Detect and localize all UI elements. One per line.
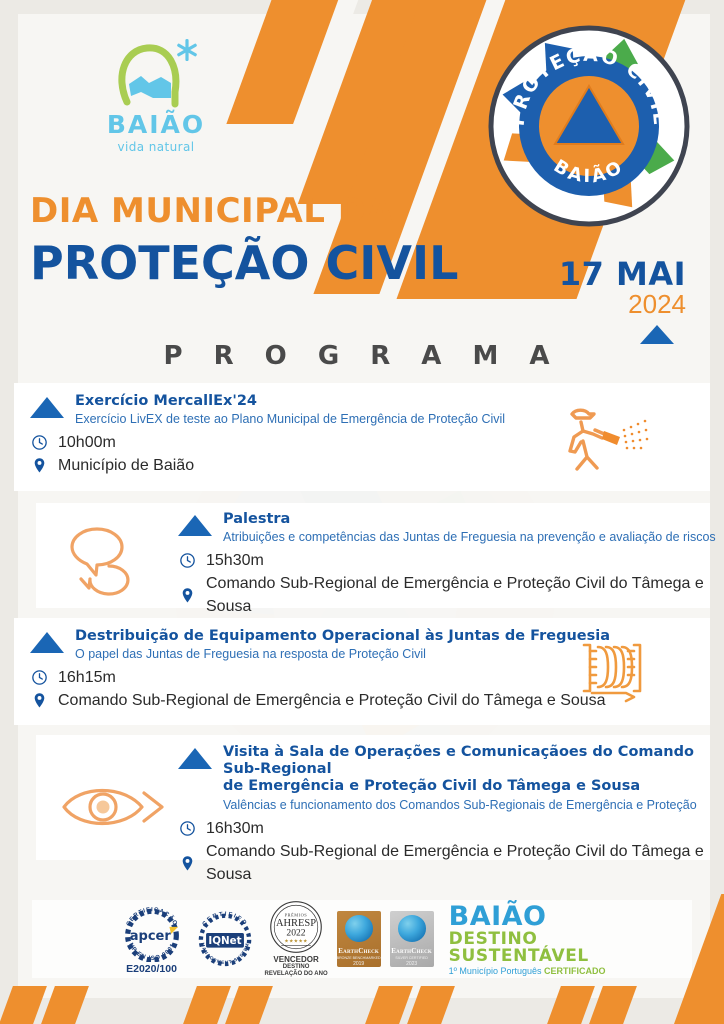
destino-line-4-bold: CERTIFICADO [544, 966, 606, 976]
baiao-logo-mark [88, 36, 224, 110]
program-item-2[interactable]: Palestra Atribuições e competências das … [0, 503, 724, 608]
event-place: Comando Sub-Regional de Emergência e Pro… [58, 689, 606, 712]
ahresp-caption-line3: REVELAÇÃO DO ANO [265, 971, 328, 978]
event-place-row: Comando Sub-Regional de Emergência e Pro… [178, 572, 724, 618]
bullet-triangle-icon [30, 632, 64, 653]
event-date-year: 2024 [559, 290, 686, 319]
event-time-row: 16h30m [178, 817, 724, 840]
event-time: 15h30m [206, 549, 264, 572]
ahresp-year-text: 2022 [287, 928, 306, 939]
bullet-triangle-icon [178, 515, 212, 536]
firefighter-icon [548, 397, 658, 486]
footer-certifications: CERTIFICAÇÃO NP EN ISO 9001 apcer E2020/… [32, 900, 692, 978]
event-place: Comando Sub-Regional de Emergência e Pro… [206, 572, 724, 618]
destino-line-4-prefix: 1º Município Português [449, 966, 544, 976]
baiao-logo: BAIÃO vida natural [88, 36, 224, 158]
protecao-civil-emblem: PROTEÇÃO CIVIL BAIÃO [487, 24, 691, 228]
event-place: Município de Baião [58, 454, 194, 477]
poster-root: BAIÃO vida natural [0, 0, 724, 1024]
iqnet-wordmark: IQNet [208, 935, 241, 947]
iqnet-ring-top-text: CERTIFIED [201, 912, 247, 928]
event-place: Comando Sub-Regional de Emergência e Pro… [206, 840, 724, 886]
svg-text:CERTIFIED: CERTIFIED [201, 912, 247, 928]
baiao-logo-wordmark: BAIÃO [88, 112, 224, 137]
row-gap [0, 491, 724, 503]
speech-bubbles-icon [60, 519, 170, 604]
row-gap [0, 725, 724, 735]
svg-text:CERTIFICAÇÃO: CERTIFICAÇÃO [125, 907, 177, 927]
clock-icon [178, 550, 196, 570]
earthcheck-silver-name: EarthCheck [391, 947, 432, 955]
clock-icon [30, 432, 48, 452]
earthcheck-silver-tier: SILVER CERTIFIED [395, 956, 427, 960]
program-item-1[interactable]: Exercício MercallEx'24 Exercício LivEX d… [0, 383, 724, 491]
event-title: Palestra [223, 511, 724, 528]
earthcheck-silver-year: 2023 [406, 961, 417, 967]
event-title-line1: Visita à Sala de Operações e Comunicação… [223, 744, 724, 778]
apcer-logo: CERTIFICAÇÃO NP EN ISO 9001 apcer E2020/… [119, 904, 185, 975]
event-time: 16h30m [206, 817, 264, 840]
destino-line-4: 1º Município Português CERTIFICADO [449, 967, 606, 976]
event-time: 16h15m [58, 666, 116, 689]
event-place-row: Comando Sub-Regional de Emergência e Pro… [178, 840, 724, 886]
ahresp-caption: VENCEDOR DESTINO REVELAÇÃO DO ANO [265, 955, 328, 978]
earthcheck-bronze-year: 2019 [353, 961, 364, 967]
destino-sustentavel-block: BAIÃO DESTINO SUSTENTÁVEL 1º Município P… [449, 903, 606, 976]
ahresp-award-logo: PRÉMIOS AHRESP 2022 ★★★★★ VENCEDOR DESTI… [265, 900, 328, 978]
event-title-line2: de Emergência e Proteção Civil do Tâmega… [223, 778, 724, 795]
svg-text:NP EN ISO 9001: NP EN ISO 9001 [127, 942, 176, 962]
event-subtitle: Valências e funcionamento dos Comandos S… [223, 798, 724, 814]
destino-line-2: DESTINO [449, 931, 606, 948]
event-date-day-month: 17 MAI [559, 258, 686, 290]
event-date: 17 MAI 2024 [559, 258, 686, 344]
earthcheck-bronze-tier: BRONZE BENCHMARKED [337, 956, 381, 960]
bullet-triangle-icon [30, 397, 64, 418]
clock-icon [30, 667, 48, 687]
bullet-triangle-icon [178, 748, 212, 769]
earthcheck-bronze-name: EarthCheck [338, 947, 379, 955]
earthcheck-bronze-logo: EarthCheck BRONZE BENCHMARKED 2019 [337, 911, 381, 967]
location-pin-icon [30, 691, 48, 711]
program-item-4[interactable]: Visita à Sala de Operações e Comunicação… [0, 735, 724, 860]
apcer-ring-top-text: CERTIFICAÇÃO [125, 907, 177, 927]
location-pin-icon [30, 456, 48, 476]
clock-icon [178, 819, 196, 839]
location-pin-icon [178, 585, 196, 605]
eye-icon [58, 779, 168, 840]
event-time-row: 15h30m [178, 549, 724, 572]
ahresp-prize-text: PRÉMIOS [285, 913, 308, 918]
apcer-ring-bottom-text: NP EN ISO 9001 [127, 942, 176, 962]
earthcheck-silver-logo: EarthCheck SILVER CERTIFIED 2023 [390, 911, 434, 967]
apcer-wordmark: apcer [129, 928, 171, 943]
location-pin-icon [178, 853, 196, 873]
baiao-logo-tagline: vida natural [88, 140, 224, 154]
event-subtitle: Atribuições e competências das Juntas de… [223, 530, 724, 546]
earthcheck-globe-icon [398, 915, 426, 942]
hose-reel-icon [572, 635, 652, 712]
ahresp-caption-line1: VENCEDOR [265, 955, 328, 964]
program-list: Exercício MercallEx'24 Exercício LivEX d… [0, 383, 724, 860]
iqnet-logo: CERTIFIED MANAGEMENT SYSTEM IQNet [194, 910, 256, 968]
page-title-line2: PROTEÇÃO CIVIL [30, 240, 458, 286]
event-time: 10h00m [58, 431, 116, 454]
apcer-code: E2020/100 [126, 963, 177, 975]
svg-text:★★★★★: ★★★★★ [284, 939, 308, 945]
destino-line-1: BAIÃO [449, 903, 606, 930]
earthcheck-globe-icon [345, 915, 373, 942]
program-item-3[interactable]: Destribuição de Equipamento Operacional … [0, 618, 724, 725]
destino-line-3: SUSTENTÁVEL [449, 948, 606, 965]
page-title-line1: DIA MUNICIPAL DA [30, 194, 393, 228]
decor-chip-1 [0, 986, 47, 1024]
